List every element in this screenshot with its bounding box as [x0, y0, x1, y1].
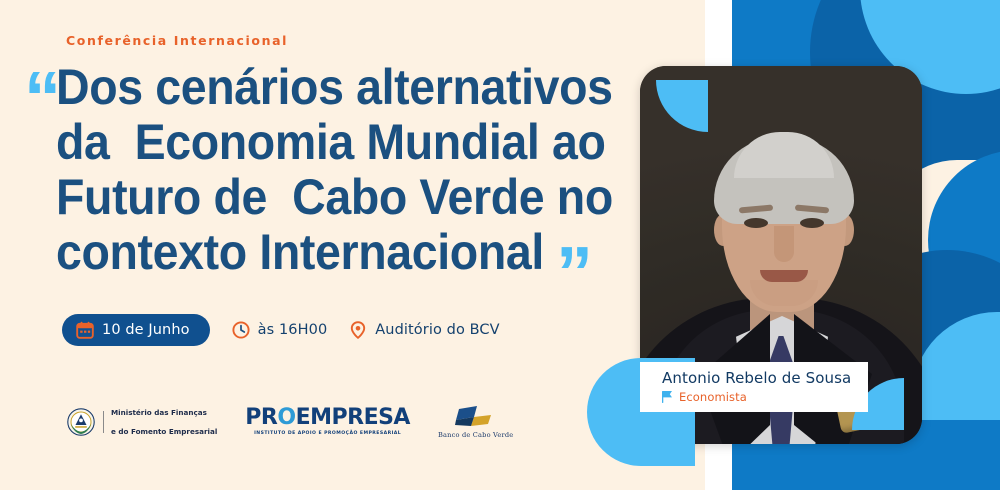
flag-icon — [662, 391, 673, 403]
logo-divider — [103, 411, 104, 433]
bcv-logo-text: Banco de Cabo Verde — [438, 431, 513, 439]
event-date-pill[interactable]: 10 de Junho — [62, 314, 210, 346]
headline-line-3: Futuro de Cabo Verde no — [56, 170, 595, 225]
proempresa-word-pre: PR — [245, 407, 277, 429]
speaker-role-row: Economista — [662, 390, 868, 404]
ministerio-line-1: Ministério das Finanças — [111, 408, 217, 418]
event-time-label: às 16H00 — [258, 322, 328, 338]
proempresa-word-o: O — [277, 407, 295, 429]
event-venue-label: Auditório do BCV — [375, 322, 499, 338]
headline-line-2: da Economia Mundial ao — [56, 115, 595, 170]
headline-line-4: contexto Internacional — [56, 225, 595, 280]
calendar-icon — [76, 321, 94, 339]
government-crest-icon — [66, 407, 96, 437]
event-venue-item: Auditório do BCV — [349, 321, 499, 339]
proempresa-word-post: EMPRESA — [296, 407, 410, 429]
event-meta-row: 10 de Junho às 16H00 Auditório do BCV — [62, 314, 500, 346]
banco-de-cabo-verde-logo: Banco de Cabo Verde — [438, 404, 513, 439]
page-title: Dos cenários alternativos da Economia Mu… — [56, 60, 595, 280]
event-time-item: às 16H00 — [232, 321, 328, 339]
proempresa-subtitle: INSTITUTO DE APOIO E PROMOÇÃO EMPRESARIA… — [254, 431, 401, 436]
ministerio-logo: Ministério das Finanças e do Fomento Emp… — [66, 398, 217, 446]
event-date-label: 10 de Junho — [102, 322, 190, 338]
bcv-book-icon — [453, 404, 499, 428]
speaker-role: Economista — [679, 390, 747, 404]
quote-close-mark: ” — [556, 236, 593, 310]
location-pin-icon — [349, 321, 367, 339]
proempresa-wordmark: PR O EMPRESA — [245, 407, 410, 429]
proempresa-logo: PR O EMPRESA INSTITUTO DE APOIO E PROMOÇ… — [245, 407, 410, 436]
clock-icon — [232, 321, 250, 339]
headline-line-1: Dos cenários alternativos — [56, 60, 595, 115]
ministerio-logo-text: Ministério das Finanças e do Fomento Emp… — [111, 398, 217, 446]
kicker-label: Conferência Internacional — [66, 33, 288, 48]
speaker-name: Antonio Rebelo de Sousa — [662, 369, 868, 387]
sponsor-logos: Ministério das Finanças e do Fomento Emp… — [66, 398, 513, 446]
conference-poster: Antonio Rebelo de Sousa Economista Confe… — [0, 0, 1000, 490]
speaker-name-card: Antonio Rebelo de Sousa Economista — [640, 362, 868, 412]
ministerio-line-2: e do Fomento Empresarial — [111, 427, 217, 437]
